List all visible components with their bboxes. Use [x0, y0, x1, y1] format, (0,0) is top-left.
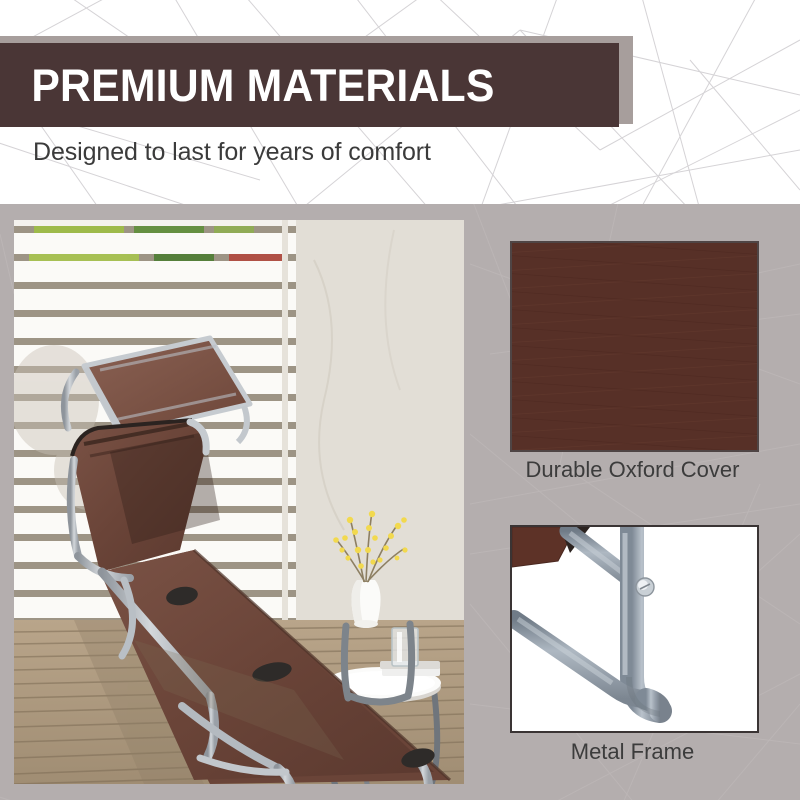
- content-section: Durable Oxford Cover: [0, 204, 800, 800]
- metal-frame-illustration: [512, 527, 757, 731]
- fabric-texture: [512, 243, 757, 450]
- infographic-page: PREMIUM MATERIALS Designed to last for y…: [0, 0, 800, 800]
- header-section: PREMIUM MATERIALS Designed to last for y…: [0, 0, 800, 204]
- main-product-photo: [14, 220, 464, 784]
- lounger-scene-illustration: [14, 220, 464, 784]
- metal-frame-photo: [510, 525, 759, 733]
- title-bar: PREMIUM MATERIALS: [0, 43, 619, 127]
- page-subtitle: Designed to last for years of comfort: [33, 138, 431, 167]
- page-title: PREMIUM MATERIALS: [0, 63, 495, 108]
- metal-frame-caption: Metal Frame: [510, 739, 755, 765]
- oxford-fabric-swatch: [510, 241, 759, 452]
- oxford-cover-caption: Durable Oxford Cover: [510, 457, 755, 483]
